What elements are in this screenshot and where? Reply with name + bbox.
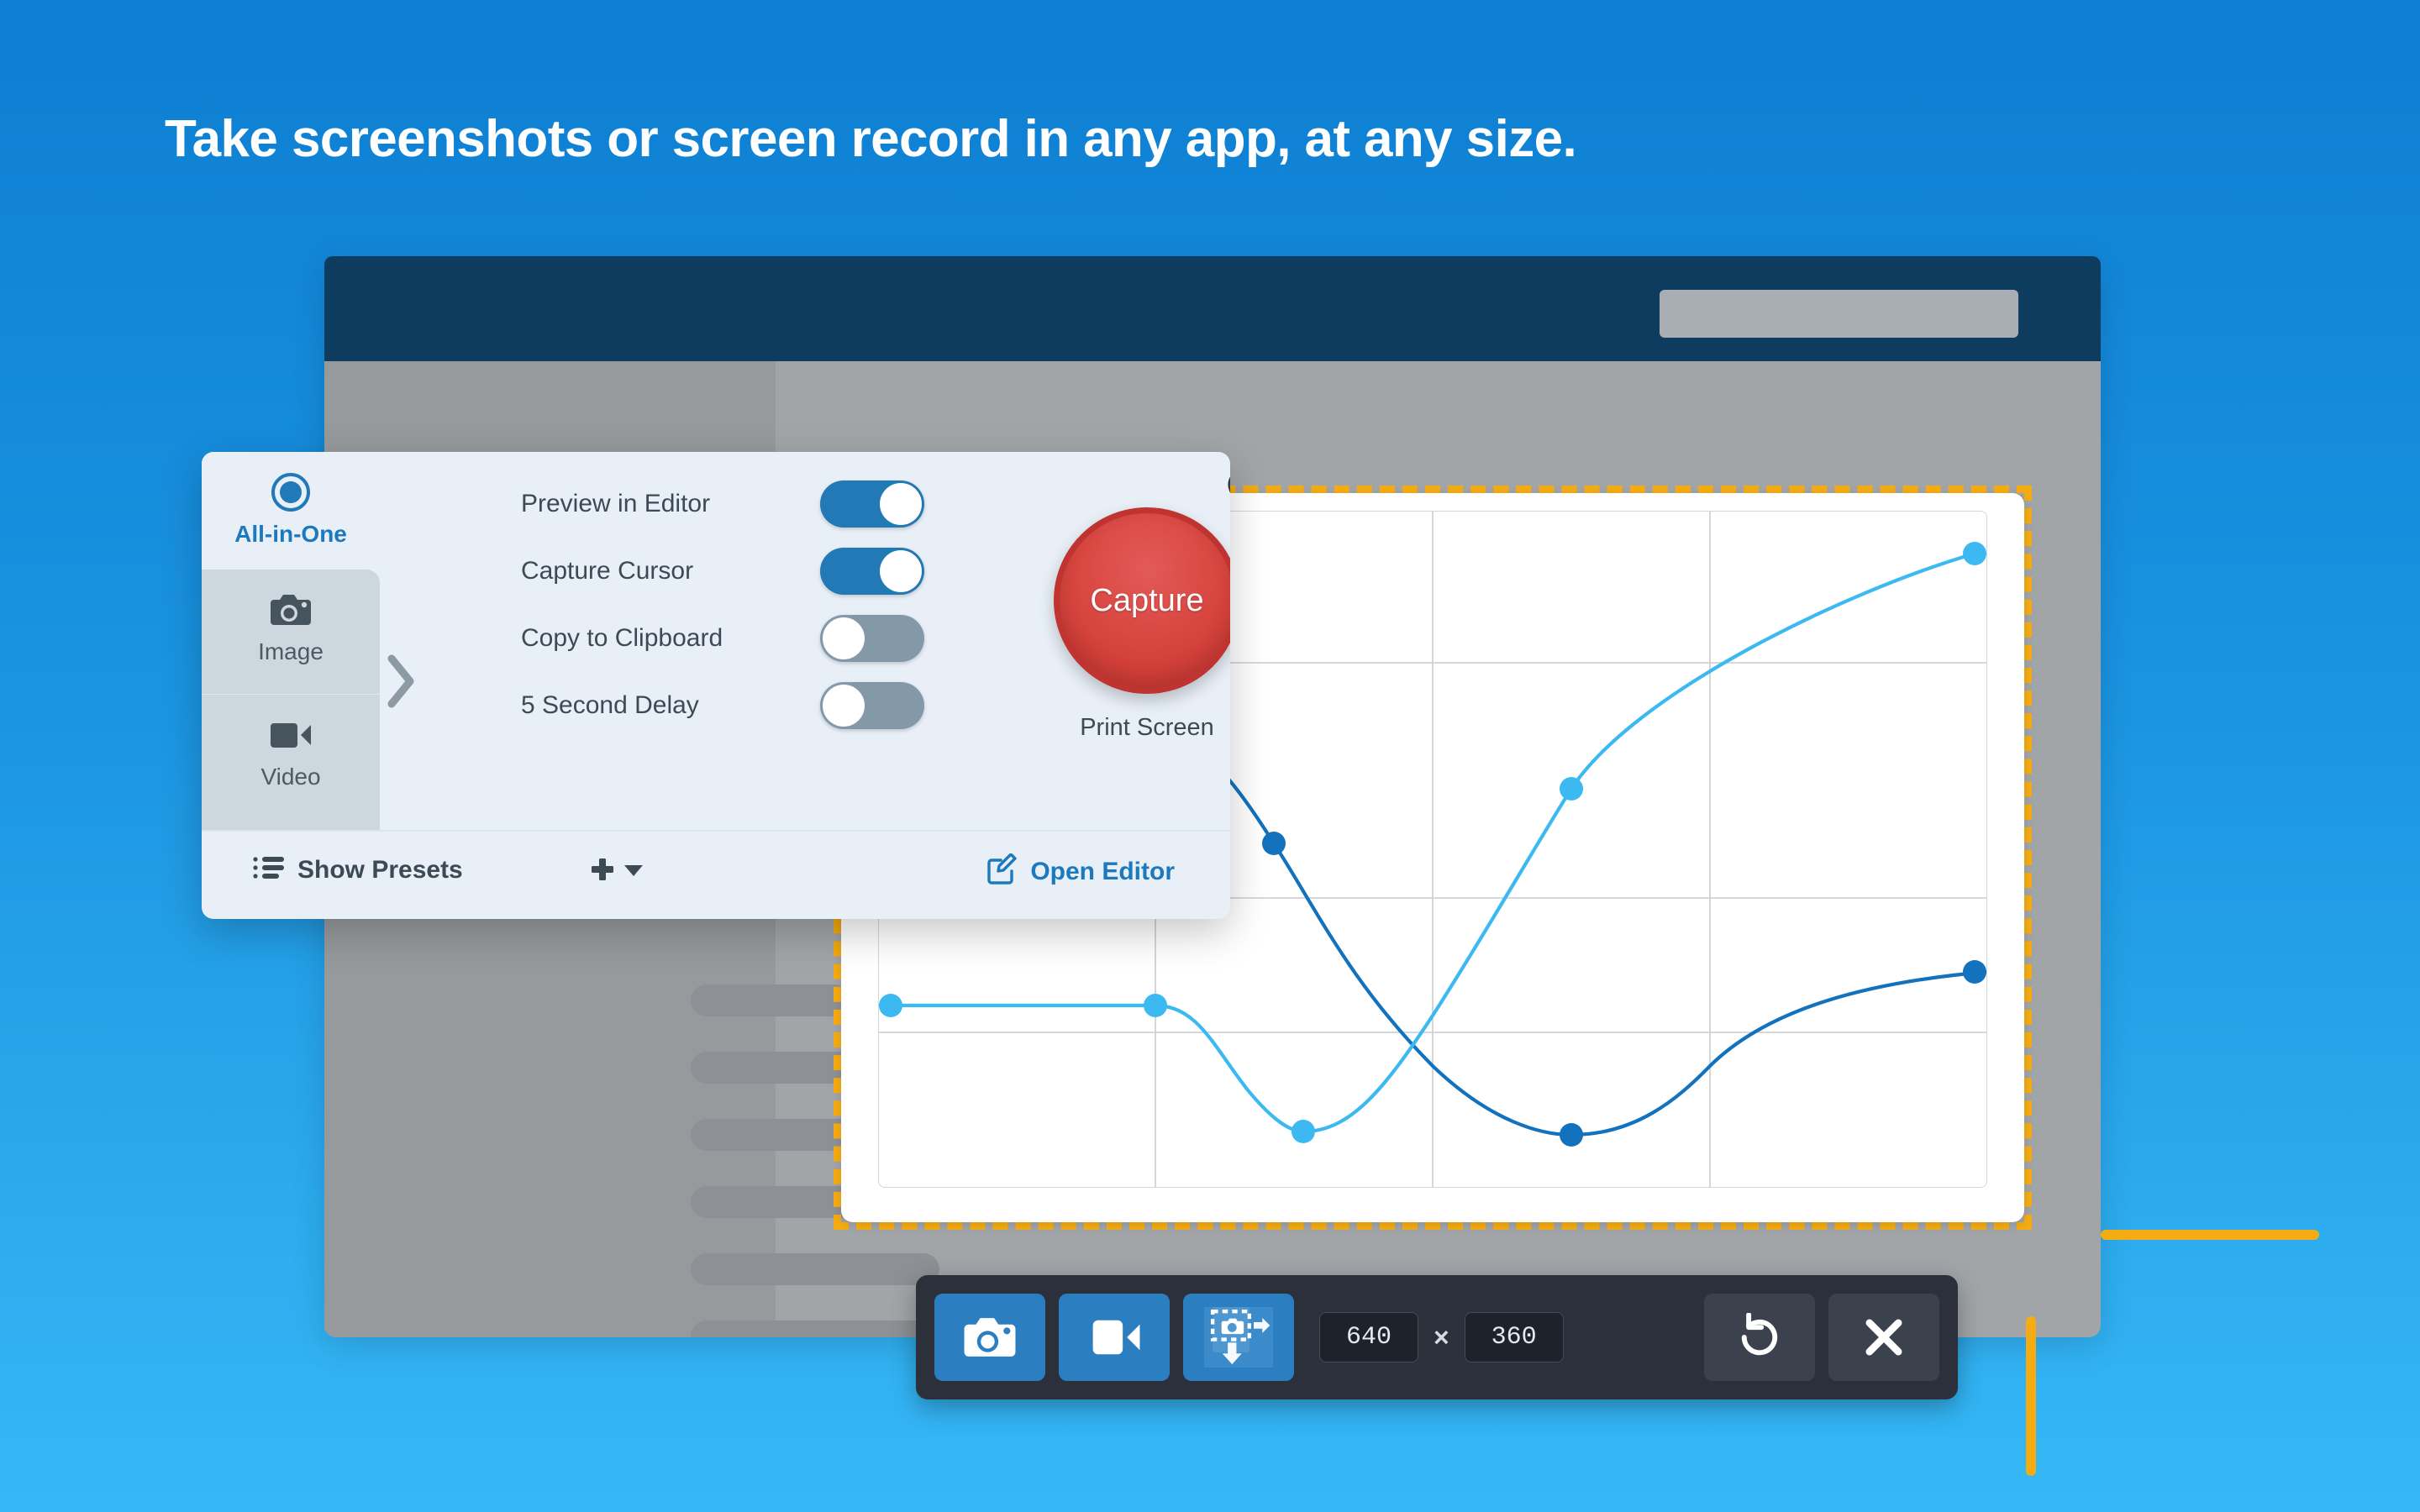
screenshot-button[interactable] xyxy=(934,1294,1045,1381)
setting-row-capture-cursor: Capture Cursor xyxy=(521,538,924,605)
mode-tab-label: Image xyxy=(202,638,380,665)
scrolling-capture-icon xyxy=(1203,1307,1274,1368)
scrolling-capture-button[interactable] xyxy=(1183,1294,1294,1381)
capture-panel-footer: Show Presets Open Edi xyxy=(202,830,1230,919)
video-camera-icon xyxy=(202,713,380,757)
dimension-separator: × xyxy=(1434,1322,1449,1353)
capture-shortcut-label: Print Screen xyxy=(1042,714,1230,742)
setting-label: 5 Second Delay xyxy=(521,691,699,720)
video-camera-icon xyxy=(1086,1315,1142,1359)
record-video-button[interactable] xyxy=(1059,1294,1170,1381)
dimension-group: 640 × 360 xyxy=(1319,1312,1564,1362)
camera-icon xyxy=(962,1314,1018,1361)
chart-point xyxy=(1560,777,1583,801)
chevron-right-icon xyxy=(383,652,417,711)
mode-tab-image[interactable]: Image xyxy=(202,570,380,694)
open-editor-label: Open Editor xyxy=(1030,858,1175,886)
mode-tab-label: Video xyxy=(202,764,380,790)
settings-list: Preview in Editor Capture Cursor Copy to… xyxy=(521,470,924,739)
mode-tab-label: All-in-One xyxy=(202,521,380,548)
mode-rail: All-in-One Image xyxy=(202,452,380,830)
height-input[interactable]: 360 xyxy=(1465,1312,1564,1362)
chart-point xyxy=(1262,832,1286,855)
width-input[interactable]: 640 xyxy=(1319,1312,1418,1362)
mode-tab-video[interactable]: Video xyxy=(202,695,380,830)
setting-label: Capture Cursor xyxy=(521,557,693,585)
radio-target-icon xyxy=(202,470,380,514)
chart-point xyxy=(1963,542,1986,565)
close-x-icon xyxy=(1861,1315,1907,1360)
setting-row-copy-to-clipboard: Copy to Clipboard xyxy=(521,605,924,672)
setting-label: Copy to Clipboard xyxy=(521,624,723,653)
redo-rotate-icon xyxy=(1735,1313,1784,1362)
chart-point xyxy=(1963,960,1986,984)
chart-point xyxy=(879,994,902,1017)
show-presets-button[interactable]: Show Presets xyxy=(252,853,463,886)
show-presets-label: Show Presets xyxy=(297,856,463,885)
toggle-knob xyxy=(823,685,865,727)
toggle-knob xyxy=(823,617,865,659)
app-titlebar xyxy=(324,256,2101,361)
capture-button[interactable]: Capture xyxy=(1054,507,1230,694)
toggle-knob xyxy=(880,483,922,525)
list-bullets-icon xyxy=(252,853,284,886)
toggle-capture-cursor[interactable] xyxy=(820,548,924,595)
skeleton-bar xyxy=(691,1253,939,1285)
crop-guide-vertical xyxy=(2026,1316,2036,1476)
reset-rotate-icon[interactable] xyxy=(1222,462,1230,507)
chart-point xyxy=(1292,1120,1315,1143)
chart-series-dark-blue xyxy=(1131,724,1986,1147)
capture-toolbar: 640 × 360 xyxy=(916,1275,1958,1399)
toggle-knob xyxy=(880,550,922,592)
skeleton-bar xyxy=(691,984,850,1016)
open-editor-button[interactable]: Open Editor xyxy=(986,853,1175,890)
capture-button-label: Capture xyxy=(1090,583,1203,619)
capture-panel-main: All-in-One Image xyxy=(202,452,1230,830)
capture-area: Capture Print Screen xyxy=(1042,452,1230,830)
chart-point xyxy=(1560,1123,1583,1147)
close-button[interactable] xyxy=(1828,1294,1939,1381)
page-title: Take screenshots or screen record in any… xyxy=(165,109,1576,169)
edit-square-icon xyxy=(986,853,1018,890)
crop-guide-horizontal xyxy=(2101,1230,2319,1240)
redo-button[interactable] xyxy=(1704,1294,1815,1381)
capture-panel: All-in-One Image xyxy=(202,452,1230,919)
toggle-preview-in-editor[interactable] xyxy=(820,480,924,528)
plus-icon xyxy=(588,855,617,888)
add-preset-button[interactable] xyxy=(588,855,645,888)
camera-icon xyxy=(202,588,380,632)
mode-tab-all-in-one[interactable]: All-in-One xyxy=(202,452,380,570)
setting-label: Preview in Editor xyxy=(521,490,710,518)
titlebar-chip xyxy=(1660,290,2018,338)
setting-row-preview-in-editor: Preview in Editor xyxy=(521,470,924,538)
setting-row-5-second-delay: 5 Second Delay xyxy=(521,672,924,739)
toggle-5-second-delay[interactable] xyxy=(820,682,924,729)
caret-down-icon xyxy=(622,859,645,884)
toggle-copy-to-clipboard[interactable] xyxy=(820,615,924,662)
chart-point xyxy=(1144,994,1167,1017)
